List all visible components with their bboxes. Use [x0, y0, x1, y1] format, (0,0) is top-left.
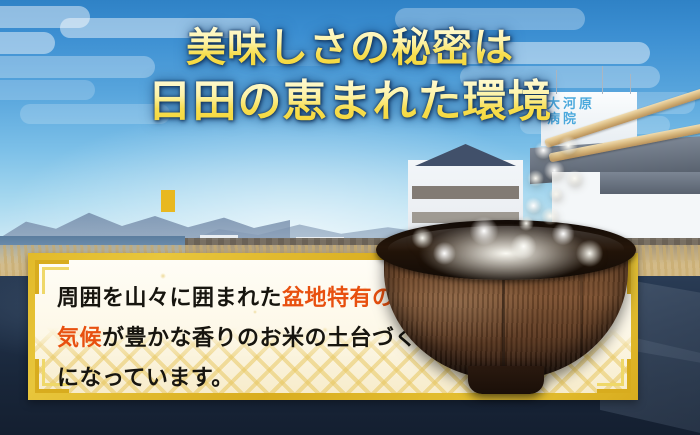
description-segment: 周囲を山々に囲まれた: [57, 285, 282, 311]
cloud-shape: [0, 56, 155, 78]
rice-bowl: [376, 206, 636, 406]
cloud-shape: [0, 32, 55, 54]
building-band: [412, 186, 519, 199]
cloud-shape: [250, 50, 340, 66]
cloud-shape: [0, 80, 95, 100]
antenna: [630, 74, 631, 94]
antenna: [602, 66, 603, 94]
rice-clump: [513, 188, 573, 240]
cloud-shape: [20, 104, 170, 124]
description-segment: になっています。: [57, 365, 234, 391]
rice-in-bowl: [396, 210, 616, 280]
cloud-shape: [395, 8, 585, 30]
bowl-foot: [468, 366, 544, 394]
banner-image: 大河原病院 美味しさの秘密は 日田の恵まれた環境: [0, 0, 700, 435]
roadside-sign: [161, 190, 175, 212]
cloud-shape: [60, 18, 260, 38]
antenna: [556, 70, 557, 94]
description-highlight: 気候: [57, 325, 102, 351]
cloud-shape: [420, 42, 650, 64]
chopsticks-with-rice: [555, 130, 700, 200]
